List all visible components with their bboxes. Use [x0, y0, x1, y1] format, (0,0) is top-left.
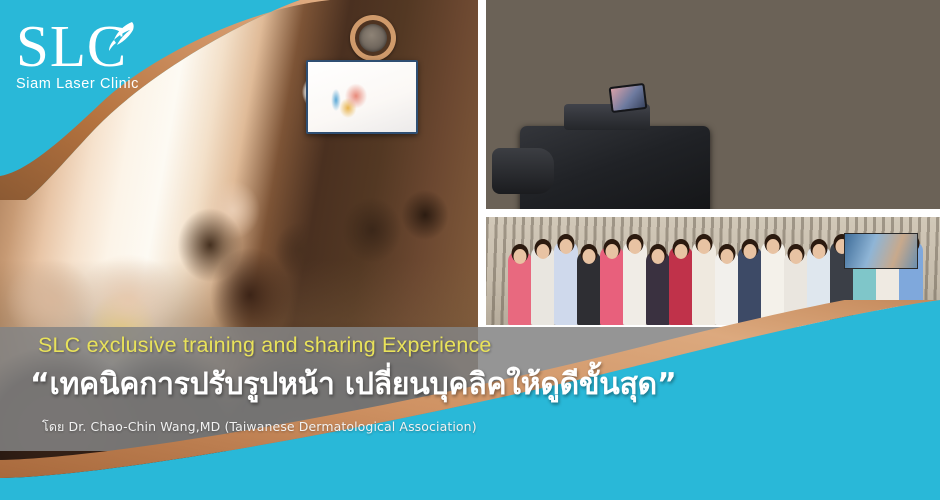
group-photo-person	[761, 241, 785, 325]
slc-training-banner: SLC Siam Laser Clinic SLC exclusive trai…	[0, 0, 940, 500]
group-photo-person	[669, 246, 693, 325]
group-photo-person	[807, 246, 831, 325]
logo-name-text: Siam Laser Clinic	[16, 76, 206, 92]
wall-clock-icon	[350, 15, 396, 61]
headline-thai: “เทคนิคการปรับรูปหน้า เปลี่ยนบุคลิคให้ดู…	[30, 361, 738, 408]
speaker-credit-line: โดย Dr. Chao-Chin Wang,MD (Taiwanese Der…	[42, 417, 738, 437]
group-photo-person	[692, 241, 716, 325]
smartphone-icon	[609, 83, 648, 113]
group-photo-person	[738, 246, 762, 325]
caption-text-block: SLC exclusive training and sharing Exper…	[38, 333, 738, 437]
video-camera-icon	[520, 126, 710, 209]
group-photo-person	[623, 241, 647, 325]
group-photo-person	[554, 241, 578, 325]
group-photo-person	[715, 251, 739, 325]
group-photo-person	[531, 246, 555, 325]
slc-logo[interactable]: SLC Siam Laser Clinic	[16, 18, 206, 92]
group-photo-person	[577, 251, 601, 325]
group-photo-person	[646, 251, 670, 325]
group-photo	[486, 217, 940, 325]
leaf-butterfly-icon	[102, 20, 136, 54]
group-photo-person	[600, 246, 624, 325]
group-photo-person	[784, 251, 808, 325]
group-photo-person	[508, 251, 532, 325]
group-photo-wall-screen	[844, 233, 918, 269]
doctor-demonstration-photo	[486, 0, 940, 209]
headline-english: SLC exclusive training and sharing Exper…	[38, 333, 738, 358]
presentation-screen	[306, 60, 418, 134]
